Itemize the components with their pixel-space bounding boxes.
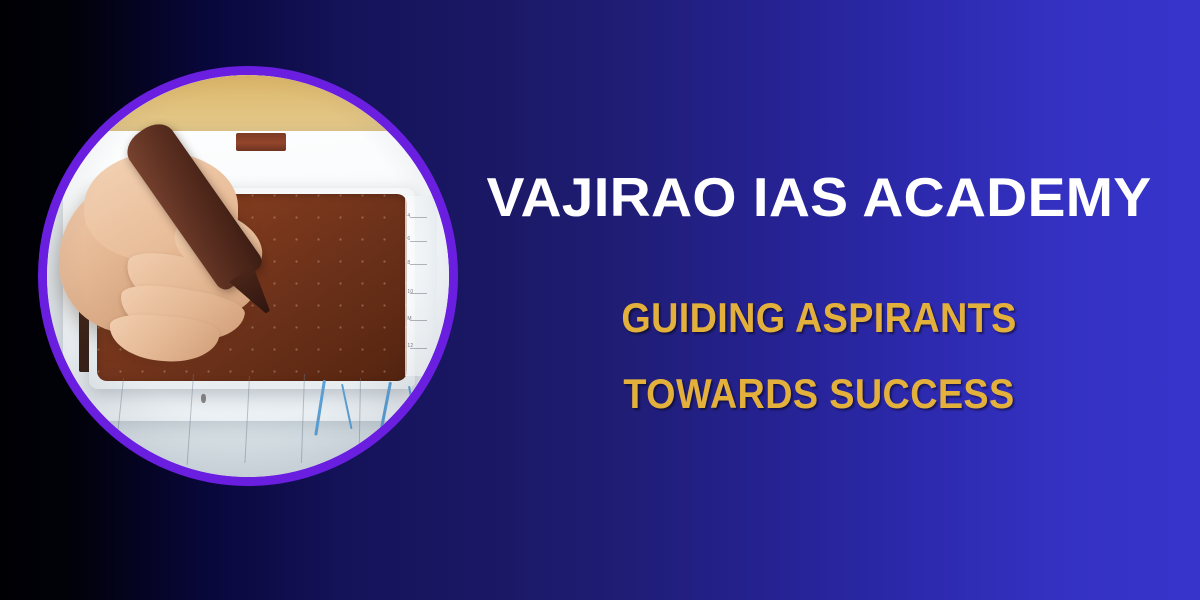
ruler-label: 8 <box>407 260 410 266</box>
tagline-line-2: TOWARDS SUCCESS <box>501 372 1136 416</box>
text-block: VAJIRAO IAS ACADEMY GUIDING ASPIRANTS TO… <box>466 168 1172 416</box>
ruler-label: 10 <box>407 289 413 295</box>
ruler-label: 12 <box>407 343 413 349</box>
ruler: 4 6 8 10 M 12 <box>405 196 437 377</box>
promo-banner: 4 6 8 10 M 12 <box>0 0 1200 600</box>
photo-inner: 4 6 8 10 M 12 <box>47 75 449 477</box>
ruler-label: M <box>407 316 411 322</box>
ruler-label: 6 <box>407 236 410 242</box>
circular-photo: 4 6 8 10 M 12 <box>38 66 458 486</box>
academy-title: VAJIRAO IAS ACADEMY <box>454 168 1185 226</box>
ruler-label: 4 <box>407 213 410 219</box>
tagline-line-1: GUIDING ASPIRANTS <box>501 296 1136 340</box>
